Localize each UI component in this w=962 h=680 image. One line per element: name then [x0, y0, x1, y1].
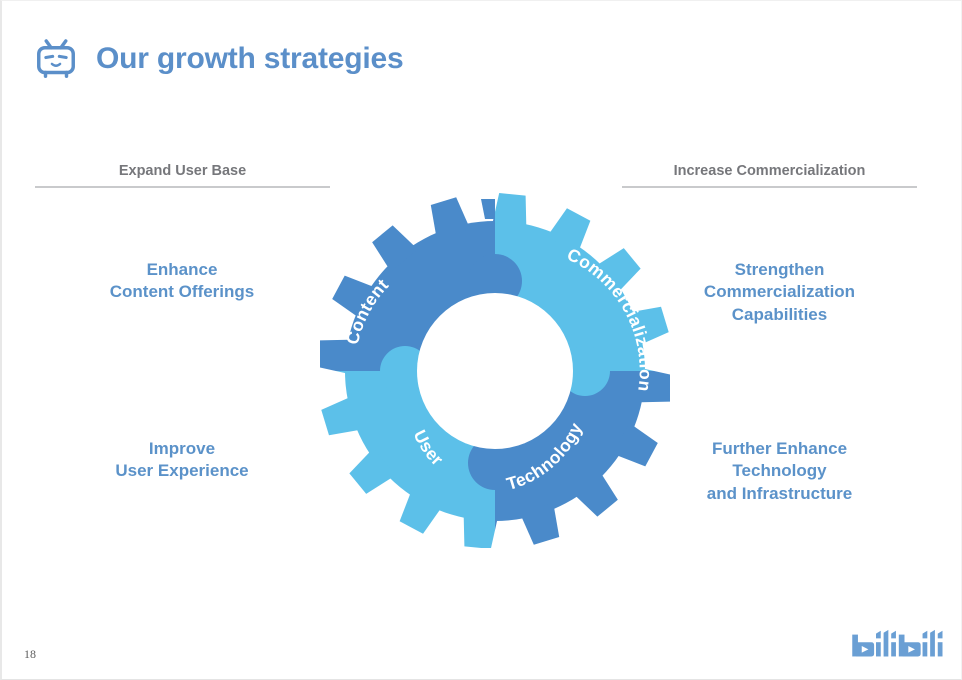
- gear-hub: [417, 293, 573, 449]
- callout-line: Technology: [657, 460, 902, 482]
- callout-line: Capabilities: [657, 304, 902, 326]
- callout-line: User Experience: [62, 460, 302, 482]
- callout-line: Enhance: [62, 259, 302, 281]
- section-left-label: Expand User Base: [35, 163, 330, 186]
- bilibili-wordmark-logo: [847, 627, 943, 665]
- callout-further-enhance-technology-infrastructure: Further Enhance Technology and Infrastru…: [657, 438, 902, 505]
- bilibili-tv-head-icon: [32, 35, 80, 83]
- callout-strengthen-commercialization-capabilities: Strengthen Commercialization Capabilitie…: [657, 259, 902, 326]
- callout-line: Further Enhance: [657, 438, 902, 460]
- callout-line: Strengthen: [657, 259, 902, 281]
- callout-enhance-content-offerings: Enhance Content Offerings: [62, 259, 302, 304]
- callout-line: Content Offerings: [62, 281, 302, 303]
- callout-line: Commercialization: [657, 281, 902, 303]
- section-header-expand-user-base: Expand User Base: [35, 163, 330, 188]
- gear-tooth: [464, 512, 499, 548]
- gear-tooth: [492, 193, 527, 230]
- gear-graphic: Content Commercialization User Technolog…: [320, 193, 670, 548]
- section-right-rule: [622, 186, 917, 188]
- section-left-rule: [35, 186, 330, 188]
- callout-improve-user-experience: Improve User Experience: [62, 438, 302, 483]
- callout-line: Improve: [62, 438, 302, 460]
- section-right-label: Increase Commercialization: [622, 163, 917, 186]
- gear-tooth: [320, 340, 354, 375]
- page-title: Our growth strategies: [96, 42, 404, 76]
- callout-line: and Infrastructure: [657, 483, 902, 505]
- page-number: 18: [24, 647, 36, 662]
- slide-canvas: Our growth strategies Expand User Base I…: [0, 0, 962, 680]
- slide-header: Our growth strategies: [32, 35, 404, 83]
- section-header-increase-commercialization: Increase Commercialization: [622, 163, 917, 188]
- gear-diagram: Content Commercialization User Technolog…: [320, 193, 670, 548]
